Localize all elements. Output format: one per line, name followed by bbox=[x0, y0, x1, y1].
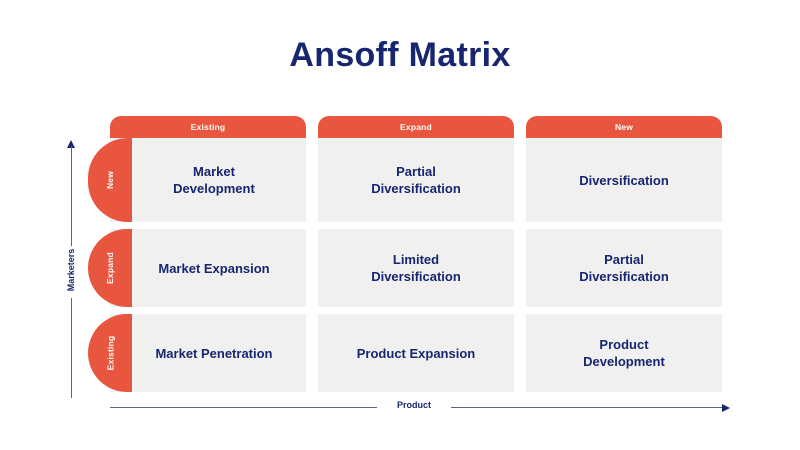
row-header-existing[interactable]: Existing bbox=[88, 314, 132, 392]
y-axis-line-bottom bbox=[71, 298, 72, 398]
row-header-label: New bbox=[105, 171, 115, 189]
cell-line-2: Development bbox=[583, 353, 665, 370]
row-header-label: Existing bbox=[105, 336, 115, 371]
cell-line-2: Diversification bbox=[579, 268, 669, 285]
matrix-cell-partial-diversification-top[interactable]: Partial Diversification bbox=[318, 138, 514, 222]
x-axis: Product bbox=[110, 398, 730, 418]
cell-line-1: Partial bbox=[371, 163, 461, 180]
page-title: Ansoff Matrix bbox=[0, 33, 800, 77]
row-header-new[interactable]: New bbox=[88, 138, 132, 222]
matrix-cell-market-development[interactable]: Market Development bbox=[110, 138, 306, 222]
column-header-label: Existing bbox=[191, 122, 226, 132]
column-header-label: Expand bbox=[400, 122, 432, 132]
cell-line-1: Market Expansion bbox=[158, 260, 269, 277]
cell-line-1: Market Penetration bbox=[155, 345, 272, 362]
column-header-new[interactable]: New bbox=[526, 116, 722, 138]
matrix-cell-limited-diversification[interactable]: Limited Diversification bbox=[318, 229, 514, 307]
column-header-existing[interactable]: Existing bbox=[110, 116, 306, 138]
y-axis-label: Marketers bbox=[62, 247, 80, 294]
matrix-cell-product-expansion[interactable]: Product Expansion bbox=[318, 314, 514, 392]
row-header-label: Expand bbox=[105, 252, 115, 284]
y-axis-line-top bbox=[71, 146, 72, 250]
ansoff-matrix: Existing Expand New Market Development P… bbox=[110, 116, 722, 392]
row-header-expand[interactable]: Expand bbox=[88, 229, 132, 307]
cell-line-1: Partial bbox=[579, 251, 669, 268]
matrix-cell-partial-diversification-mid[interactable]: Partial Diversification bbox=[526, 229, 722, 307]
cell-line-1: Market bbox=[173, 163, 255, 180]
x-axis-line-left bbox=[110, 407, 377, 408]
x-axis-line-right bbox=[451, 407, 722, 408]
column-header-label: New bbox=[615, 122, 633, 132]
cell-line-2: Development bbox=[173, 180, 255, 197]
column-header-expand[interactable]: Expand bbox=[318, 116, 514, 138]
matrix-cell-product-development[interactable]: Product Development bbox=[526, 314, 722, 392]
matrix-cell-market-penetration[interactable]: Market Penetration bbox=[110, 314, 306, 392]
x-axis-label: Product bbox=[377, 400, 451, 410]
y-axis: Marketers bbox=[56, 140, 86, 400]
cell-line-1: Limited bbox=[371, 251, 461, 268]
cell-line-1: Diversification bbox=[579, 172, 669, 189]
matrix-cell-diversification[interactable]: Diversification bbox=[526, 138, 722, 222]
arrow-right-icon bbox=[722, 404, 730, 412]
cell-line-1: Product bbox=[583, 336, 665, 353]
cell-line-1: Product Expansion bbox=[357, 345, 475, 362]
cell-line-2: Diversification bbox=[371, 180, 461, 197]
cell-line-2: Diversification bbox=[371, 268, 461, 285]
matrix-cell-market-expansion[interactable]: Market Expansion bbox=[110, 229, 306, 307]
